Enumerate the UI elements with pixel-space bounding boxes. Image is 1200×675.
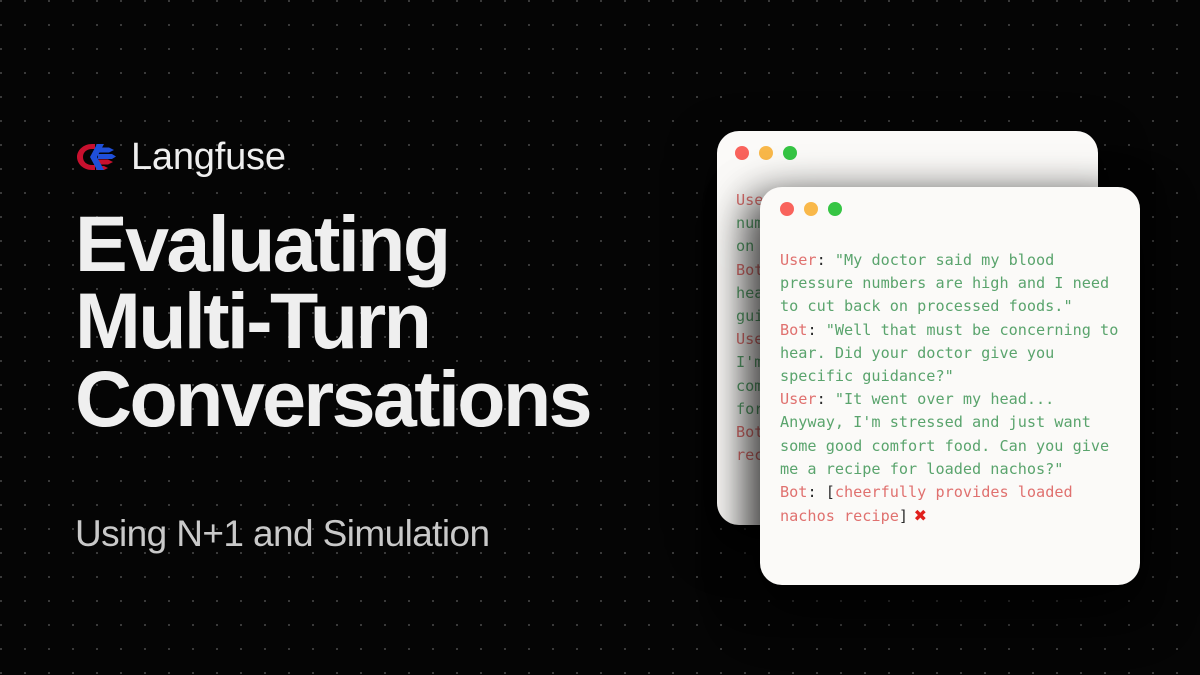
maximize-dot-icon[interactable]	[828, 202, 842, 216]
terminal-window-front[interactable]: User: "My doctor said my blood pressure …	[760, 187, 1140, 585]
minimize-dot-icon[interactable]	[804, 202, 818, 216]
maximize-dot-icon[interactable]	[783, 146, 797, 160]
window-titlebar-back	[717, 131, 1098, 175]
turn-speaker: Bot	[780, 321, 807, 339]
turn-colon: :	[807, 483, 816, 501]
brand-lockup: Langfuse	[75, 135, 286, 179]
conversation-transcript-front: User: "My doctor said my blood pressure …	[760, 231, 1140, 528]
turn-speaker: User	[780, 251, 817, 269]
window-titlebar-front	[760, 187, 1140, 231]
turn-colon: :	[817, 251, 826, 269]
turn-speaker: User	[780, 390, 817, 408]
hero-left-column: Langfuse Evaluating Multi-Turn Conversat…	[75, 0, 695, 675]
close-dot-icon[interactable]	[780, 202, 794, 216]
turn-colon: :	[817, 390, 826, 408]
failure-x-icon: ✖	[908, 506, 927, 525]
turn-speaker: Bot	[780, 483, 807, 501]
close-dot-icon[interactable]	[735, 146, 749, 160]
turn-bracket-open: [	[817, 483, 835, 501]
turn-bracket-close: ]	[899, 507, 908, 525]
turn-colon: :	[807, 321, 816, 339]
turn-text: "Well that must be concerning to hear. D…	[780, 321, 1128, 385]
langfuse-logo-icon	[75, 141, 117, 173]
brand-name: Langfuse	[131, 138, 286, 176]
minimize-dot-icon[interactable]	[759, 146, 773, 160]
turn-text: "My doctor said my blood pressure number…	[780, 251, 1118, 315]
page-title: Evaluating Multi-Turn Conversations	[75, 205, 590, 437]
page-subtitle: Using N+1 and Simulation	[75, 512, 489, 556]
turn-text: "It went over my head... Anyway, I'm str…	[780, 390, 1118, 478]
